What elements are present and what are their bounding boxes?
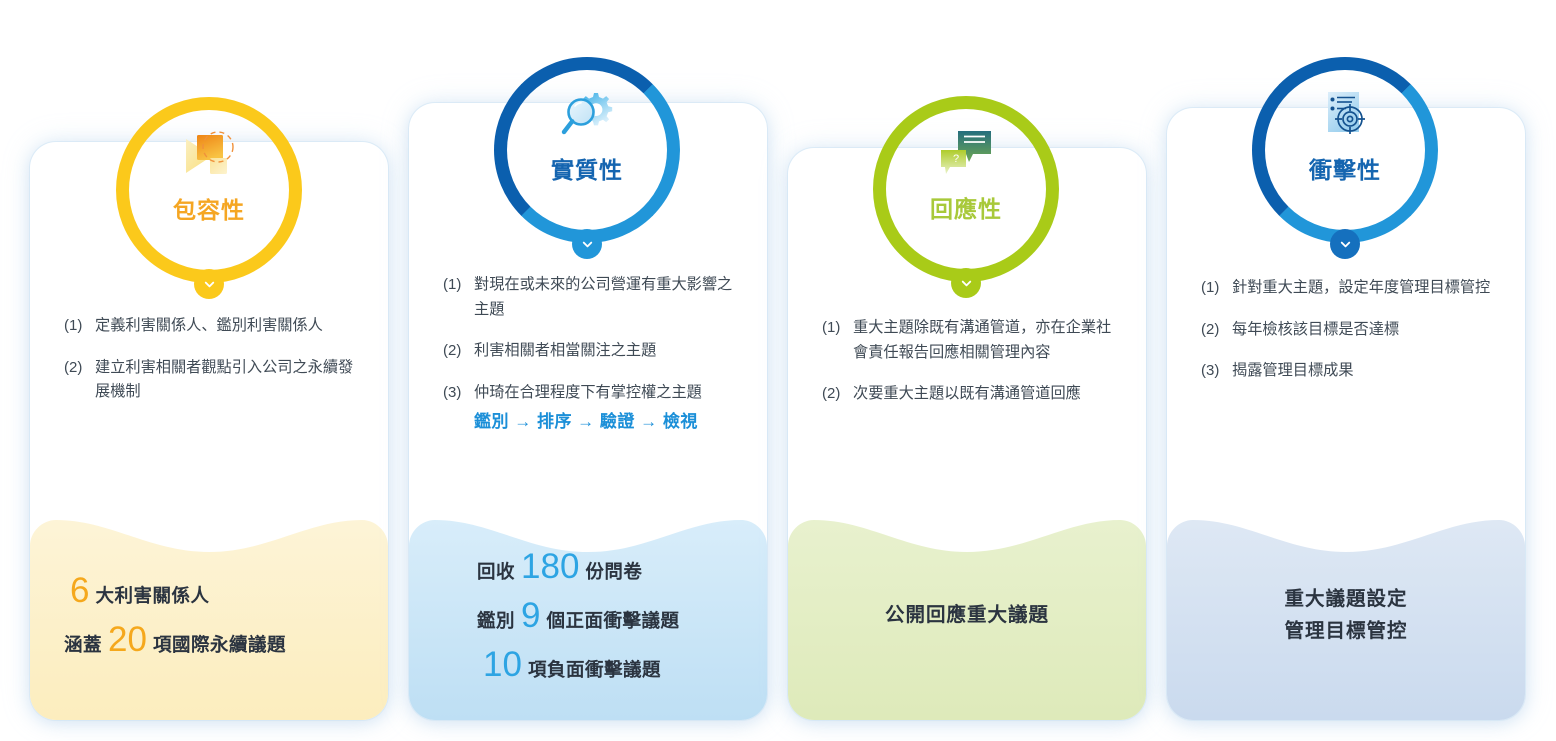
stat-text: 大利害關係人 — [95, 582, 209, 608]
ring-label: 實質性 — [494, 151, 680, 185]
bullet-number: (1) — [822, 316, 853, 340]
bullet-item: (1) 重大主題除既有溝通管道，亦在企業社會責任報告回應相關管理內容 — [822, 316, 1120, 365]
card-materiality-bullets: (1) 對現在或未來的公司營運有重大影響之主題 (2) 利害相關者相當關注之主題… — [443, 273, 741, 452]
ring-circle-blue — [1252, 57, 1438, 243]
bullet-text: 重大主題除既有溝通管道，亦在企業社會責任報告回應相關管理內容 — [853, 316, 1120, 365]
stat-number: 180 — [521, 549, 579, 584]
bullet-text: 對現在或未來的公司營運有重大影響之主題 — [474, 273, 741, 322]
ring-label: 衝擊性 — [1252, 151, 1438, 185]
bullet-main-text: 仲琦在合理程度下有掌控權之主題 — [474, 384, 702, 401]
chat-bubbles-icon: ? — [933, 126, 999, 184]
stat-line: 涵蓋 20 項國際永續議題 — [64, 622, 354, 657]
ring-circle-green — [873, 96, 1059, 282]
card-inclusivity-bullets: (1) 定義利害關係人、鑑別利害關係人 (2) 建立利害相關者觀點引入公司之永續… — [64, 314, 362, 422]
card-impact-bullets: (1) 針對重大主題，設定年度管理目標管控 (2) 每年檢核該目標是否達標 (3… — [1201, 276, 1499, 401]
bullet-text: 針對重大主題，設定年度管理目標管控 — [1232, 276, 1499, 301]
bullet-number: (1) — [64, 314, 95, 338]
bullet-text: 次要重大主題以既有溝通管道回應 — [853, 382, 1120, 407]
stat-line: 10 項負面衝擊議題 — [477, 647, 733, 682]
bullet-text: 揭露管理目標成果 — [1232, 359, 1499, 384]
bullet-item: (2) 每年檢核該目標是否達標 — [1201, 318, 1499, 343]
ring-circle-orange — [116, 97, 302, 283]
bullet-number: (3) — [443, 381, 474, 405]
stat-prefix: 回收 — [477, 558, 515, 584]
stat-line: 6 大利害關係人 — [64, 573, 354, 608]
summary-text: 管理目標管控 — [1201, 615, 1491, 647]
stat-prefix: 涵蓋 — [64, 631, 102, 657]
bullet-text: 利害相關者相當關注之主題 — [474, 339, 741, 364]
bullet-number: (1) — [1201, 276, 1232, 300]
chevron-down-icon[interactable] — [1330, 229, 1360, 259]
card-materiality-footer: 回收 180 份問卷 鑑別 9 個正面衝擊議題 10 項負面衝擊議題 — [409, 502, 767, 720]
stat-prefix: 鑑別 — [477, 607, 515, 633]
bullet-item: (1) 定義利害關係人、鑑別利害關係人 — [64, 314, 362, 339]
chevron-down-icon[interactable] — [951, 268, 981, 298]
magnifier-gear-icon — [554, 87, 620, 145]
stat-number: 10 — [483, 647, 522, 682]
bullet-number: (1) — [443, 273, 474, 297]
ring-label: 回應性 — [873, 190, 1059, 224]
bullet-number: (2) — [64, 356, 95, 380]
svg-text:?: ? — [953, 153, 959, 165]
bullet-number: (3) — [1201, 359, 1232, 383]
summary-text: 公開回應重大議題 — [822, 599, 1112, 631]
ring-label: 包容性 — [116, 191, 302, 225]
card-materiality-stats: 回收 180 份問卷 鑑別 9 個正面衝擊議題 10 項負面衝擊議題 — [409, 502, 767, 720]
ring-circle-blue — [494, 57, 680, 243]
ring-impact[interactable]: 衝擊性 — [1252, 57, 1438, 243]
bullet-item: (1) 對現在或未來的公司營運有重大影響之主題 — [443, 273, 741, 322]
bullet-item: (1) 針對重大主題，設定年度管理目標管控 — [1201, 276, 1499, 301]
ring-responsiveness[interactable]: ? 回應性 — [873, 96, 1059, 282]
ring-materiality[interactable]: 實質性 — [494, 57, 680, 243]
stat-line: 鑑別 9 個正面衝擊議題 — [477, 598, 733, 633]
bullet-text: 建立利害相關者觀點引入公司之永續發展機制 — [95, 356, 362, 405]
bullet-number: (2) — [822, 382, 853, 406]
card-responsiveness-stats: 公開回應重大議題 — [788, 502, 1146, 720]
bullet-item: (2) 利害相關者相當關注之主題 — [443, 339, 741, 364]
card-responsiveness-bullets: (1) 重大主題除既有溝通管道，亦在企業社會責任報告回應相關管理內容 (2) 次… — [822, 316, 1120, 424]
stat-number: 9 — [521, 598, 540, 633]
stat-text: 項國際永續議題 — [153, 631, 286, 657]
bullet-number: (2) — [443, 339, 474, 363]
chevron-down-icon[interactable] — [194, 269, 224, 299]
bullet-text: 仲琦在合理程度下有掌控權之主題 鑑別 → 排序 → 驗證 → 檢視 — [474, 381, 741, 435]
stat-text: 份問卷 — [585, 558, 642, 584]
card-inclusivity-stats: 6 大利害關係人 涵蓋 20 項國際永續議題 — [30, 502, 388, 720]
chevron-down-icon[interactable] — [572, 229, 602, 259]
bullet-item: (3) 仲琦在合理程度下有掌控權之主題 鑑別 → 排序 → 驗證 → 檢視 — [443, 381, 741, 435]
ring-inclusivity[interactable]: 包容性 — [116, 97, 302, 283]
bullet-item: (2) 建立利害相關者觀點引入公司之永續發展機制 — [64, 356, 362, 405]
card-impact-stats: 重大議題設定 管理目標管控 — [1167, 502, 1525, 720]
bullet-item: (3) 揭露管理目標成果 — [1201, 359, 1499, 384]
stat-text: 個正面衝擊議題 — [546, 607, 679, 633]
share-arrow-icon — [176, 127, 242, 185]
card-impact-footer: 重大議題設定 管理目標管控 — [1167, 502, 1525, 720]
bullet-number: (2) — [1201, 318, 1232, 342]
stat-number: 6 — [70, 573, 89, 608]
document-target-icon — [1312, 87, 1378, 145]
summary-text: 重大議題設定 — [1201, 583, 1491, 615]
card-responsiveness-footer: 公開回應重大議題 — [788, 502, 1146, 720]
stat-text: 項負面衝擊議題 — [528, 656, 661, 682]
card-inclusivity-footer: 6 大利害關係人 涵蓋 20 項國際永續議題 — [30, 502, 388, 720]
bullet-item: (2) 次要重大主題以既有溝通管道回應 — [822, 382, 1120, 407]
process-flow-text: 鑑別 → 排序 → 驗證 → 檢視 — [474, 408, 741, 436]
bullet-text: 每年檢核該目標是否達標 — [1232, 318, 1499, 343]
stat-line: 回收 180 份問卷 — [477, 549, 733, 584]
principles-infographic: 6 大利害關係人 涵蓋 20 項國際永續議題 (1) 定義利害關係人、鑑別利害關… — [0, 0, 1556, 741]
bullet-text: 定義利害關係人、鑑別利害關係人 — [95, 314, 362, 339]
stat-number: 20 — [108, 622, 147, 657]
